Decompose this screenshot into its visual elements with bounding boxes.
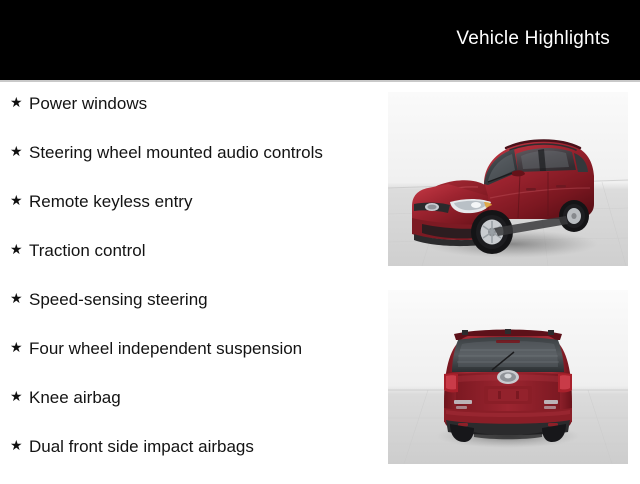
- list-item: ★ Knee airbag: [0, 386, 380, 435]
- feature-label: Knee airbag: [29, 386, 121, 409]
- feature-label: Speed-sensing steering: [29, 288, 208, 311]
- feature-label: Steering wheel mounted audio controls: [29, 141, 323, 164]
- star-icon: ★: [10, 288, 29, 311]
- feature-label: Four wheel independent suspension: [29, 337, 302, 360]
- star-icon: ★: [10, 435, 29, 458]
- list-item: ★ Power windows: [0, 92, 380, 141]
- feature-label: Dual front side impact airbags: [29, 435, 254, 458]
- feature-label: Remote keyless entry: [29, 190, 192, 213]
- vehicle-rear-illustration: [388, 290, 628, 464]
- star-icon: ★: [10, 337, 29, 360]
- star-icon: ★: [10, 386, 29, 409]
- list-item: ★ Remote keyless entry: [0, 190, 380, 239]
- vehicle-front-three-quarter-image: [388, 92, 628, 266]
- vehicle-highlights-page: Vehicle Highlights ★ Power windows ★ Ste…: [0, 0, 640, 480]
- vehicle-features-list: ★ Power windows ★ Steering wheel mounted…: [0, 92, 380, 484]
- list-item: ★ Dual front side impact airbags: [0, 435, 380, 484]
- feature-label: Traction control: [29, 239, 146, 262]
- feature-label: Power windows: [29, 92, 147, 115]
- vehicle-front-illustration: [388, 92, 628, 266]
- header-divider: [0, 80, 640, 82]
- header-banner: Vehicle Highlights: [0, 0, 640, 80]
- page-title: Vehicle Highlights: [456, 28, 610, 50]
- star-icon: ★: [10, 92, 29, 115]
- list-item: ★ Speed-sensing steering: [0, 288, 380, 337]
- list-item: ★ Four wheel independent suspension: [0, 337, 380, 386]
- star-icon: ★: [10, 239, 29, 262]
- list-item: ★ Traction control: [0, 239, 380, 288]
- vehicle-rear-image: [388, 290, 628, 464]
- list-item: ★ Steering wheel mounted audio controls: [0, 141, 380, 190]
- star-icon: ★: [10, 190, 29, 213]
- star-icon: ★: [10, 141, 29, 164]
